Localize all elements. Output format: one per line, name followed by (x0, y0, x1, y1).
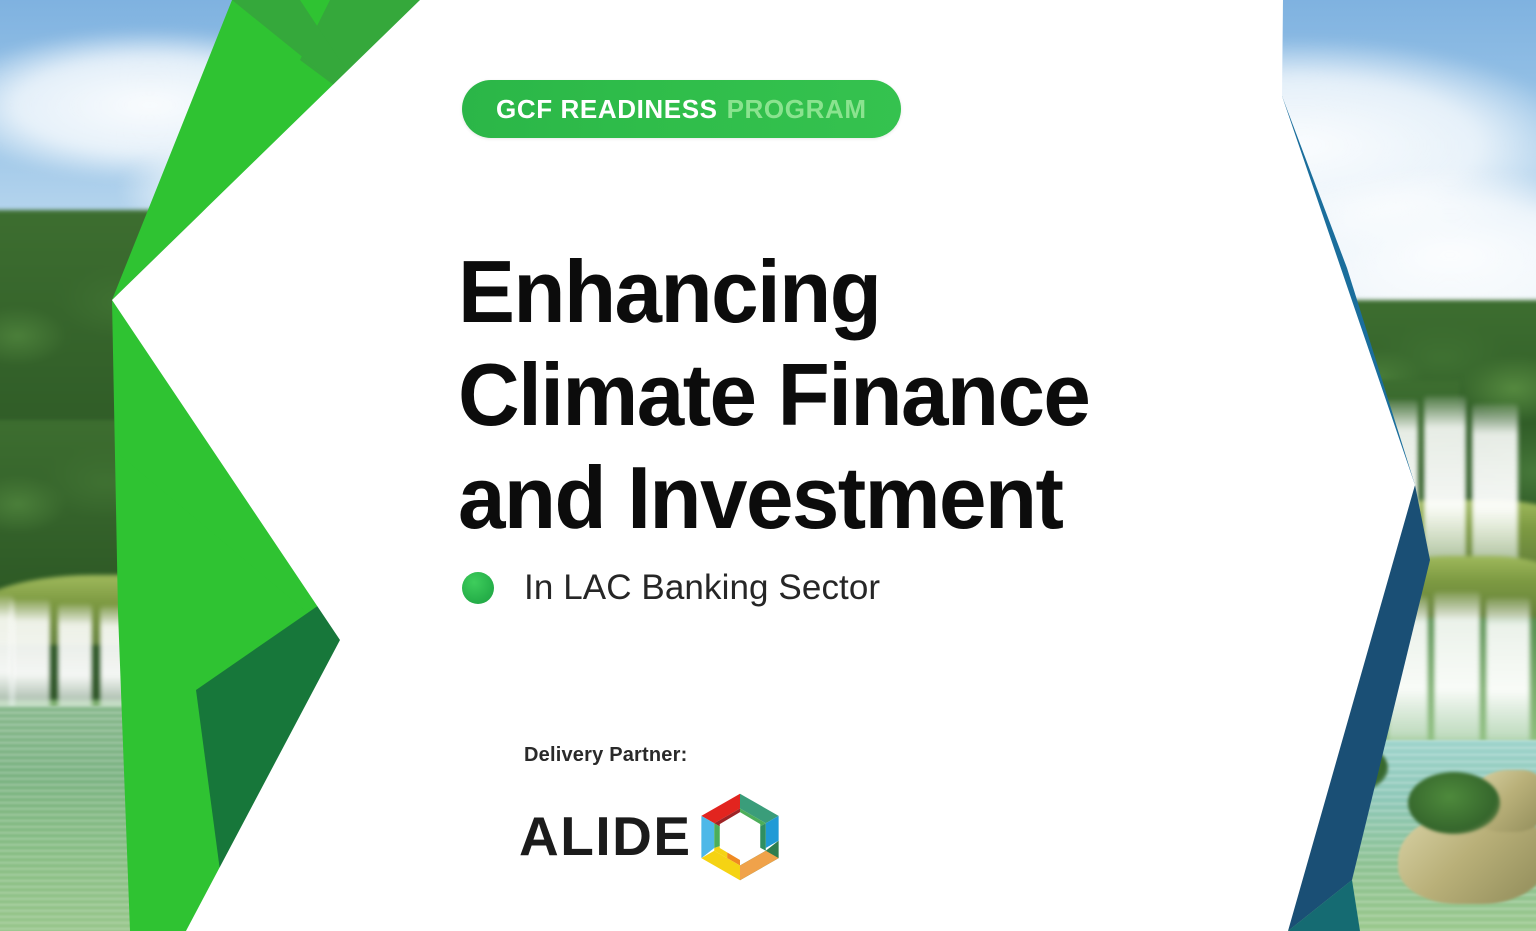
poster-canvas: GCF READINESS PROGRAM Enhancing Climate … (0, 0, 1536, 931)
subtitle-row: In LAC Banking Sector (462, 568, 880, 608)
alide-wordmark: ALIDE (519, 809, 692, 864)
headline-line-1: Enhancing (458, 241, 1176, 344)
green-dot-icon (462, 572, 494, 604)
gcf-readiness-program-badge[interactable]: GCF READINESS PROGRAM (462, 80, 901, 138)
subtitle-text: In LAC Banking Sector (524, 568, 880, 608)
delivery-partner-label: Delivery Partner: (524, 744, 687, 767)
alide-logo: ALIDE (519, 789, 786, 883)
headline-line-2: Climate Finance (458, 344, 1176, 447)
alide-hexagon-icon (694, 791, 786, 883)
page-title: Enhancing Climate Finance and Investment (458, 241, 1176, 550)
badge-label-light: PROGRAM (727, 94, 867, 125)
content-layer: GCF READINESS PROGRAM Enhancing Climate … (0, 0, 1536, 931)
headline-line-3: and Investment (458, 447, 1176, 550)
badge-label-strong: GCF READINESS (496, 94, 718, 125)
